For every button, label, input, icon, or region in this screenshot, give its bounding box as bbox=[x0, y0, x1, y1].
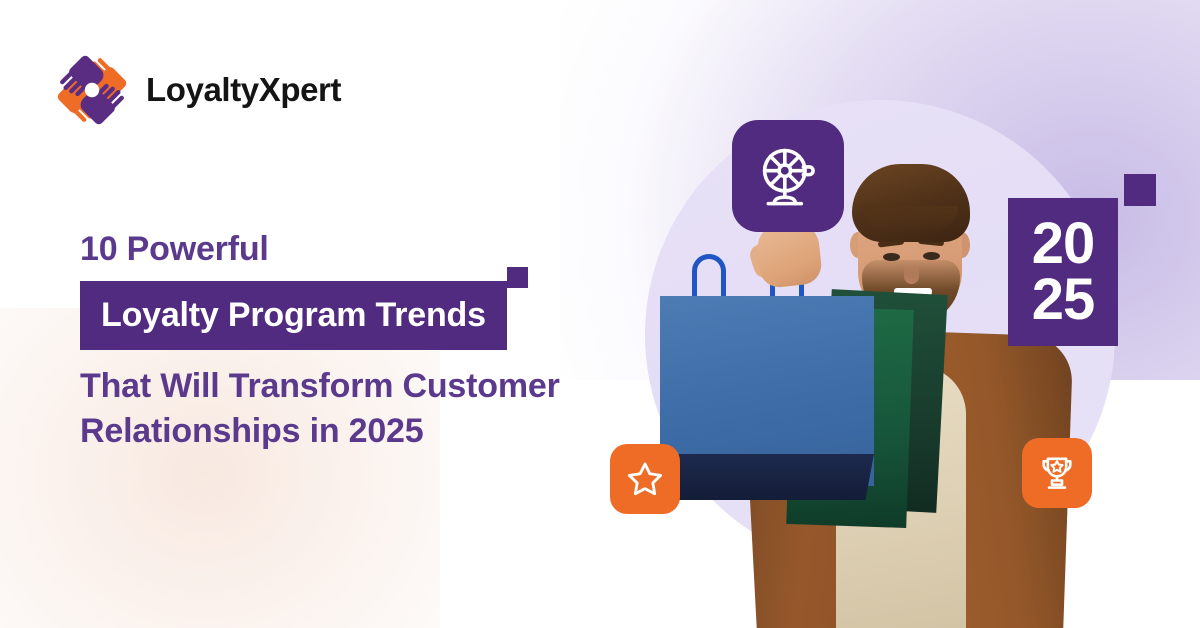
spin-wheel-icon bbox=[754, 142, 822, 210]
four-hands-diamond-logo-icon bbox=[52, 50, 132, 130]
promo-banner: LoyaltyXpert 10 Powerful Loyalty Program… bbox=[0, 0, 1200, 628]
badge-spin-wheel[interactable] bbox=[732, 120, 844, 232]
headline-block: 10 Powerful Loyalty Program Trends That … bbox=[80, 228, 640, 455]
shopping-bags bbox=[640, 268, 960, 568]
bag-blue-base bbox=[660, 454, 874, 500]
year-badge-2025: 20 25 bbox=[1008, 198, 1118, 346]
bag-handle-left bbox=[692, 254, 726, 300]
headline-highlight: Loyalty Program Trends bbox=[80, 281, 507, 350]
eye-right bbox=[923, 252, 940, 260]
year-top: 20 bbox=[1032, 216, 1095, 272]
headline-tail: That Will Transform Customer Relationshi… bbox=[80, 364, 640, 454]
headline-line-4: Relationships in 2025 bbox=[80, 409, 640, 454]
year-bottom: 25 bbox=[1032, 272, 1095, 328]
eye-left bbox=[883, 253, 900, 261]
badge-trophy[interactable] bbox=[1022, 438, 1092, 508]
accent-square-year bbox=[1124, 174, 1156, 206]
accent-square-headline bbox=[507, 267, 528, 288]
headline-line-3: That Will Transform Customer bbox=[80, 364, 640, 409]
headline-highlight-wrap: Loyalty Program Trends bbox=[80, 281, 507, 350]
star-icon bbox=[626, 460, 664, 498]
trophy-icon bbox=[1037, 453, 1077, 493]
brand-logo[interactable]: LoyaltyXpert bbox=[52, 50, 341, 130]
hair-fringe bbox=[864, 206, 958, 232]
headline-line-1: 10 Powerful bbox=[80, 228, 640, 270]
badge-star[interactable] bbox=[610, 444, 680, 514]
brand-wordmark: LoyaltyXpert bbox=[146, 71, 341, 109]
